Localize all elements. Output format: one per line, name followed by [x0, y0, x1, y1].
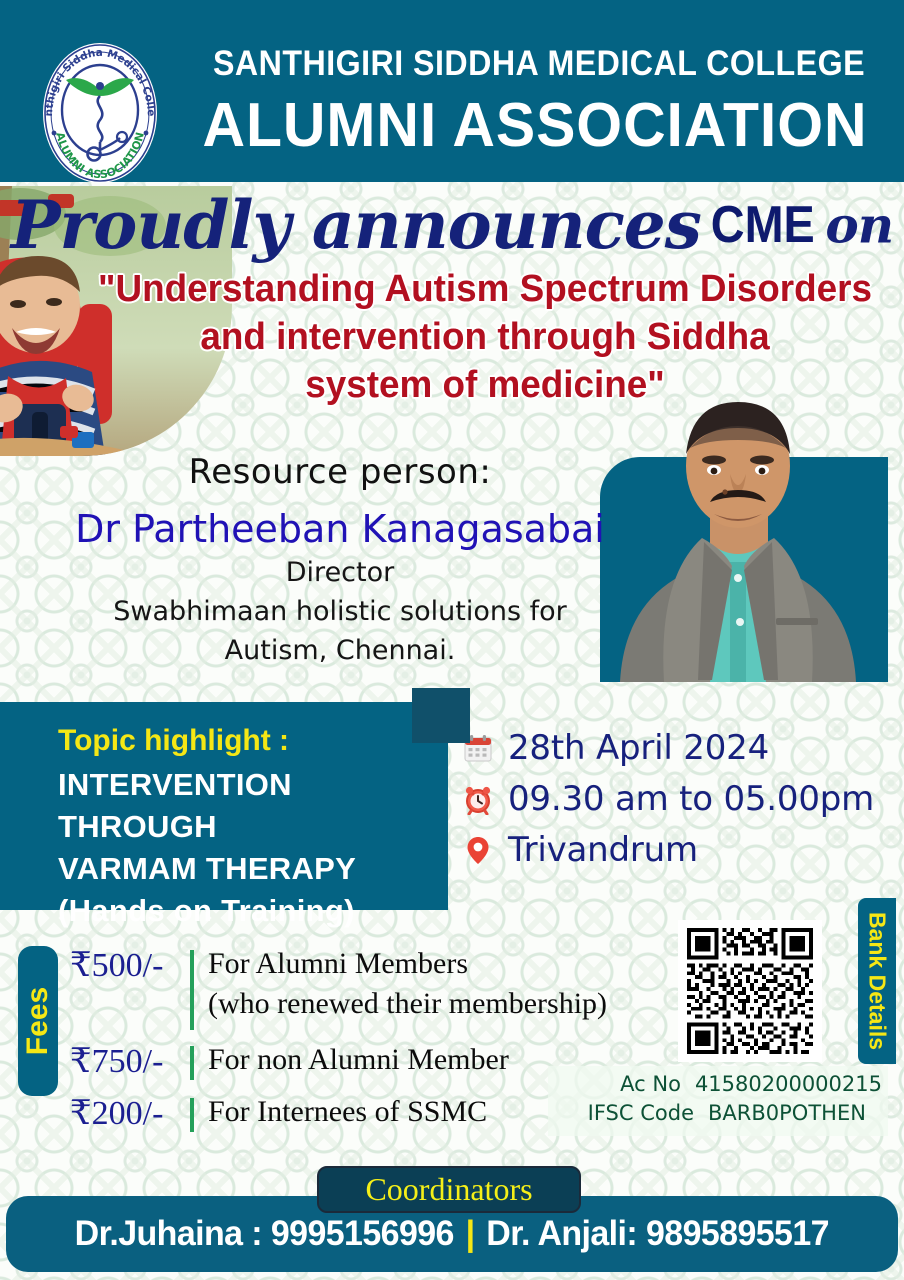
cme-title: "Understanding Autism Spectrum Disorders…	[92, 265, 878, 409]
fee-separator	[190, 1046, 194, 1080]
announcement-line: Proudly announces CME on	[0, 186, 904, 258]
fee-description-line-1: For non Alumni Member	[208, 1040, 509, 1080]
fee-description-line-1: For Internees of SSMC	[208, 1092, 487, 1132]
bank-account-label: Ac No	[554, 1070, 681, 1099]
cme-title-line-3: system of medicine"	[92, 361, 878, 409]
association-name: ALUMNI ASSOCIATION	[203, 90, 868, 161]
location-pin-icon	[462, 834, 494, 866]
bank-qr-code[interactable]	[678, 920, 822, 1062]
announce-script-on: on	[825, 196, 893, 255]
fee-amount: ₹750/-	[70, 1040, 190, 1084]
event-venue-row: Trivandrum	[462, 824, 874, 875]
fee-description: For Alumni Members (who renewed their me…	[208, 944, 607, 1024]
resource-person-name: Dr Partheeban Kanagasabai	[60, 507, 620, 551]
topic-line-1: INTERVENTION THROUGH	[58, 764, 448, 848]
fee-separator	[190, 1098, 194, 1132]
bank-details-info: Ac No 41580200000215 IFSC Code BARB0POTH…	[548, 1066, 888, 1136]
college-name: SANTHIGIRI SIDDHA MEDICAL COLLEGE	[213, 44, 857, 84]
coordinators-separator: |	[463, 1214, 478, 1253]
bank-details-tab: Bank Details	[858, 898, 896, 1064]
resource-person-affiliation-line-1: Swabhimaan holistic solutions for	[60, 594, 620, 629]
fee-amount: ₹200/-	[70, 1092, 190, 1136]
coordinator-2-phone[interactable]: 9895895517	[646, 1214, 829, 1253]
bank-ifsc-value: BARB0POTHEN	[708, 1099, 866, 1128]
resource-person-affiliation-line-2: Autism, Chennai.	[60, 633, 620, 668]
fee-row: ₹200/- For Internees of SSMC	[70, 1092, 607, 1138]
fees-tab-label: Fees	[21, 987, 55, 1055]
cme-title-line-1: "Understanding Autism Spectrum Disorders	[92, 265, 878, 313]
fees-list: ₹500/- For Alumni Members (who renewed t…	[70, 944, 607, 1138]
coordinators-contacts: Dr.Juhaina : 9995156996 | Dr. Anjali: 98…	[75, 1214, 829, 1254]
alarm-clock-icon	[462, 783, 494, 815]
announce-script-text: Proudly announces	[11, 186, 701, 264]
bank-details-tab-label: Bank Details	[864, 912, 891, 1050]
coordinators-tab-label: Coordinators	[365, 1171, 532, 1208]
topic-highlight-panel: Topic highlight : INTERVENTION THROUGH V…	[0, 702, 448, 910]
cme-poster: SANTHIGIRI SIDDHA MEDICAL COLLEGE ALUMNI…	[0, 0, 904, 1280]
coordinator-2-name: Dr. Anjali:	[486, 1214, 637, 1253]
cme-title-line-2: and intervention through Siddha	[92, 313, 878, 361]
topic-highlight-body: INTERVENTION THROUGH VARMAM THERAPY (Han…	[58, 764, 448, 932]
doctor-photo	[590, 382, 888, 682]
fee-row: ₹500/- For Alumni Members (who renewed t…	[70, 944, 607, 1036]
fee-description-line-1: For Alumni Members	[208, 944, 607, 984]
bank-account-line: Ac No 41580200000215	[554, 1070, 882, 1099]
bank-ifsc-line: IFSC Code BARB0POTHEN	[554, 1099, 882, 1128]
coordinator-1-phone[interactable]: 9995156996	[271, 1214, 454, 1253]
resource-person-label: Resource person:	[60, 452, 620, 492]
coordinators-tab: Coordinators	[317, 1166, 581, 1213]
topic-line-2: VARMAM THERAPY	[58, 848, 448, 890]
event-time-row: 09.30 am to 05.00pm	[462, 773, 874, 824]
topic-accent-square	[412, 688, 470, 743]
college-emblem-logo: Santhigiri Siddha Medical College ALUMNI…	[30, 38, 170, 188]
resource-person-block: Resource person: Dr Partheeban Kanagasab…	[60, 452, 620, 668]
fees-tab: Fees	[18, 946, 58, 1096]
fee-row: ₹750/- For non Alumni Member	[70, 1040, 607, 1086]
event-date-row: 28th April 2024	[462, 722, 874, 773]
event-details: 28th April 2024 09.30 am to 05.00pm	[462, 722, 874, 875]
event-date: 28th April 2024	[508, 728, 769, 768]
fee-separator	[190, 950, 194, 1030]
header-title-group: SANTHIGIRI SIDDHA MEDICAL COLLEGE ALUMNI…	[185, 44, 885, 161]
topic-highlight-label: Topic highlight :	[58, 724, 289, 758]
cme-highlight: CME	[711, 195, 815, 255]
coordinator-1-name: Dr.Juhaina :	[75, 1214, 262, 1253]
bank-account-value: 41580200000215	[695, 1070, 882, 1099]
fee-amount: ₹500/-	[70, 944, 190, 988]
event-time: 09.30 am to 05.00pm	[508, 779, 874, 819]
bank-ifsc-label: IFSC Code	[554, 1099, 694, 1128]
topic-line-3: (Hands on Training)	[58, 890, 448, 932]
resource-person-designation: Director	[60, 555, 620, 590]
fee-description-line-2: (who renewed their membership)	[208, 984, 607, 1024]
event-venue: Trivandrum	[508, 830, 698, 870]
